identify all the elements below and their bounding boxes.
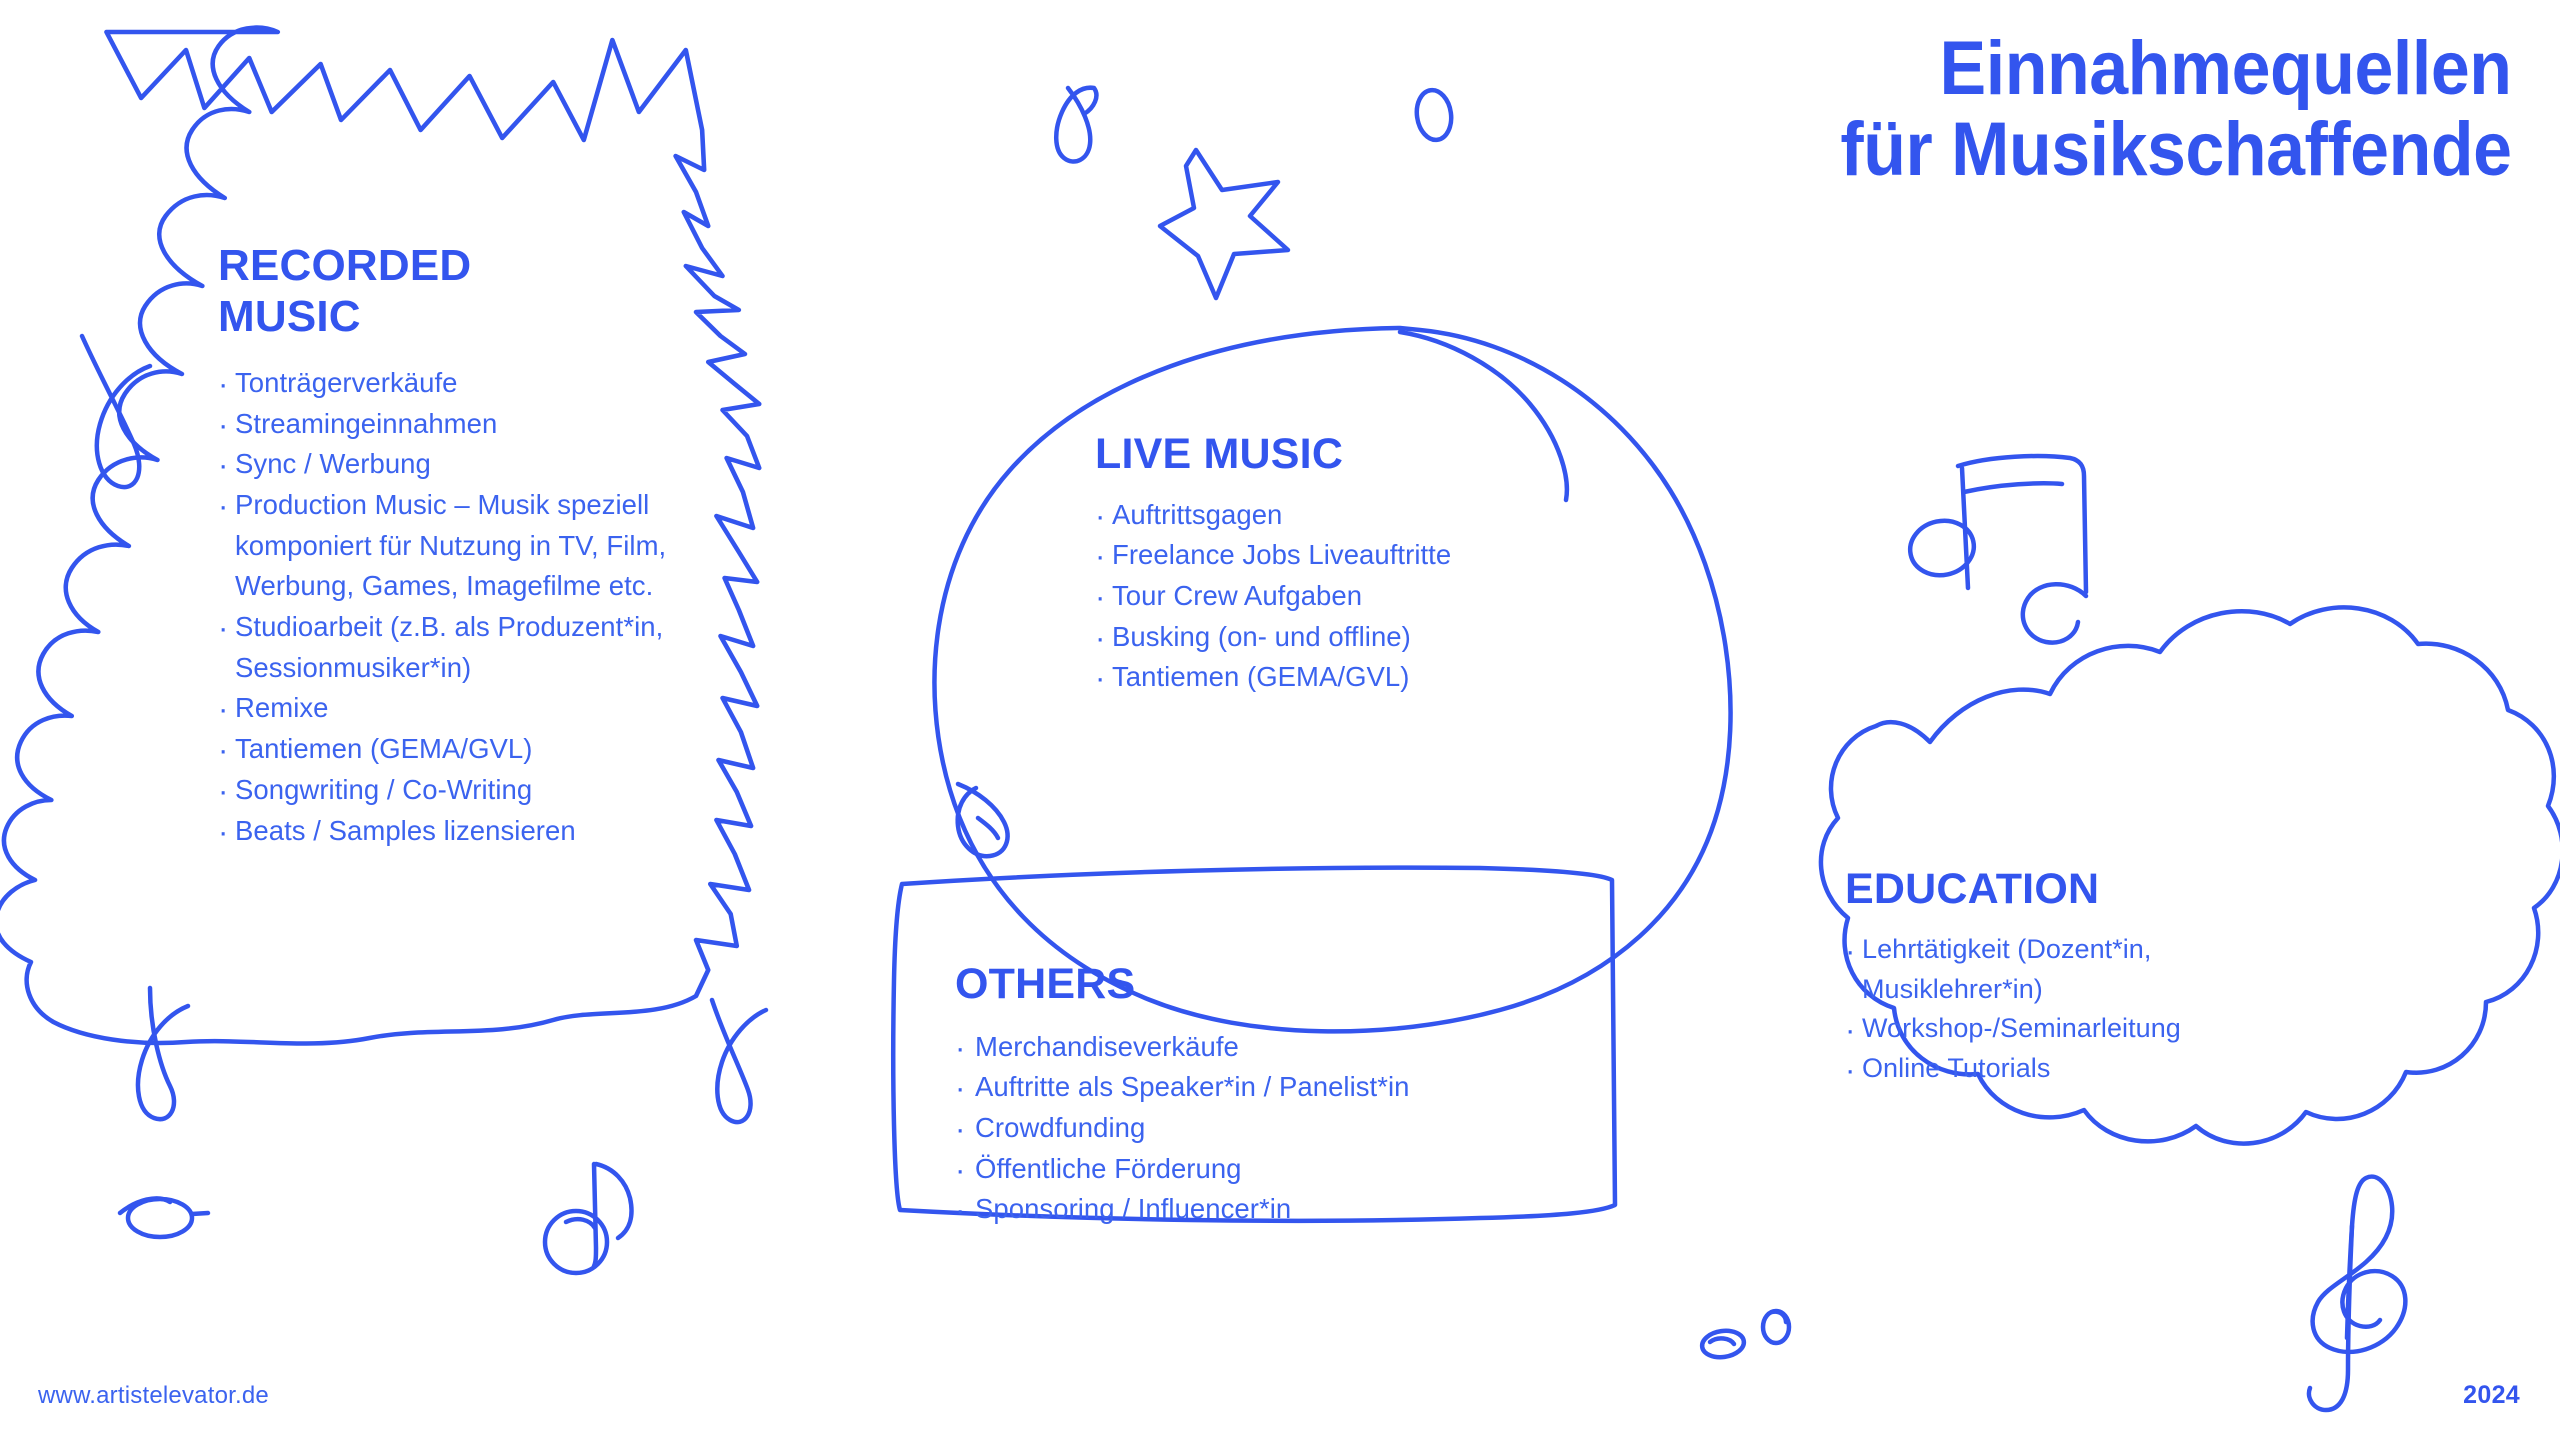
card-recorded-music: RECORDED MUSIC Tonträgerverkäufe Streami… <box>218 240 818 851</box>
list-item: Beats / Samples lizensieren <box>218 811 818 852</box>
list-item: Merchandiseverkäufe <box>955 1027 1595 1068</box>
card-heading-education: EDUCATION <box>1845 865 2385 914</box>
crossed-oval-doodle <box>120 1198 208 1237</box>
card-others: OTHERS Merchandiseverkäufe Auftritte als… <box>955 960 1595 1230</box>
list-item: Remixe <box>218 688 818 729</box>
leaf-doodle-live <box>958 784 1008 856</box>
footer-website[interactable]: www.artistelevator.de <box>38 1382 269 1410</box>
list-item: Tantiemen (GEMA/GVL) <box>218 729 818 770</box>
list-item: Sponsoring / Influencer*in <box>955 1189 1595 1230</box>
list-item: Öffentliche Förderung <box>955 1149 1595 1190</box>
oval-doodle-top <box>1414 88 1455 142</box>
list-item-continuation: Werbung, Games, Imagefilme etc. <box>235 566 818 607</box>
list-item: Production Music – Musik speziell kompon… <box>218 485 818 607</box>
list-item: Online Tutorials <box>1845 1049 2385 1089</box>
list-item: Songwriting / Co-Writing <box>218 770 818 811</box>
leaf-doodle-mid-right <box>712 1000 766 1122</box>
list-item: Crowdfunding <box>955 1108 1595 1149</box>
list-item: Workshop-/Seminarleitung <box>1845 1009 2385 1049</box>
list-item-continuation: Musiklehrer*in) <box>1862 970 2385 1010</box>
list-item: Auftritte als Speaker*in / Panelist*in <box>955 1067 1595 1108</box>
card-heading-live-music: LIVE MUSIC <box>1095 430 1655 479</box>
list-item: Tour Crew Aufgaben <box>1095 576 1655 617</box>
list-item: Freelance Jobs Liveauftritte <box>1095 535 1655 576</box>
leaf-doodle-lower-left <box>138 988 188 1119</box>
star-doodle <box>1160 150 1288 298</box>
card-list-others: Merchandiseverkäufe Auftritte als Speake… <box>955 1027 1595 1230</box>
leaf-doodle-live-tail <box>978 818 998 838</box>
card-list-recorded-music: Tonträgerverkäufe Streamingeinnahmen Syn… <box>218 363 818 851</box>
beamed-notes-doodle <box>1905 456 2086 643</box>
treble-clef-doodle <box>2309 1177 2405 1410</box>
leaf-doodle-left <box>82 336 150 487</box>
card-education: EDUCATION Lehrtätigkeit (Dozent*in, Musi… <box>1845 865 2385 1089</box>
list-item: Tantiemen (GEMA/GVL) <box>1095 657 1655 698</box>
list-item: Lehrtätigkeit (Dozent*in, Musiklehrer*in… <box>1845 930 2385 1010</box>
list-item: Studioarbeit (z.B. als Produzent*in, Ses… <box>218 607 818 688</box>
list-item: Sync / Werbung <box>218 444 818 485</box>
card-heading-others: OTHERS <box>955 960 1595 1009</box>
card-list-live-music: Auftrittsgagen Freelance Jobs Liveauftri… <box>1095 495 1655 698</box>
list-item: Streamingeinnahmen <box>218 404 818 445</box>
eighth-note-doodle <box>545 1164 632 1273</box>
small-oval-pair-doodle <box>1700 1311 1789 1360</box>
card-heading-recorded-music: RECORDED MUSIC <box>218 240 818 343</box>
list-item: Auftrittsgagen <box>1095 495 1655 536</box>
list-item: Tonträgerverkäufe <box>218 363 818 404</box>
card-list-education: Lehrtätigkeit (Dozent*in, Musiklehrer*in… <box>1845 930 2385 1090</box>
card-live-music: LIVE MUSIC Auftrittsgagen Freelance Jobs… <box>1095 430 1655 698</box>
page-title: Einnahmequellen für Musikschaffende <box>1841 28 2512 191</box>
list-item-continuation: komponiert für Nutzung in TV, Film, <box>235 526 818 567</box>
list-item-continuation: Sessionmusiker*in) <box>235 648 818 689</box>
infographic-canvas: Einnahmequellen für Musikschaffende RECO… <box>0 0 2560 1440</box>
list-item: Busking (on- und offline) <box>1095 617 1655 658</box>
leaf-doodle-top <box>1056 88 1096 162</box>
footer-year: 2024 <box>2463 1381 2520 1410</box>
